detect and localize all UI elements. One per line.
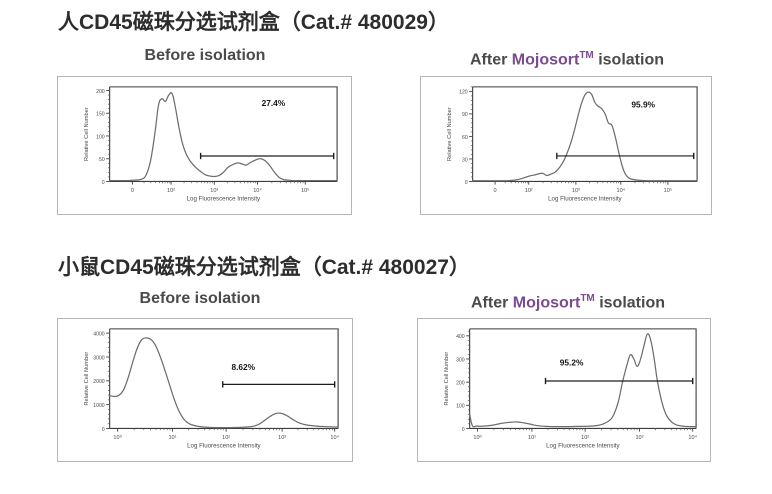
histogram-human-after: 0306090120010²10³10⁴10⁵Log Fluorescence … [421,77,711,214]
svg-text:30: 30 [462,157,468,163]
svg-text:10⁵: 10⁵ [301,187,309,194]
histogram-mouse-after: 010020030040010⁰10¹10²10³10⁴Log Fluoresc… [418,319,710,461]
svg-text:Relative Cell Number: Relative Cell Number [84,352,90,406]
svg-text:10⁴: 10⁴ [617,187,626,194]
histogram-mouse-before: 0100020003000400010⁰10¹10²10³10⁴Log Fluo… [58,319,352,461]
svg-text:10⁴: 10⁴ [688,434,697,441]
brand-mojosort-text: Mojosort [512,51,580,68]
panel-subtitle-after-human: After MojosortTM isolation [417,46,717,70]
subtitle-pre-text: After [470,51,512,68]
svg-text:3000: 3000 [93,355,105,361]
svg-text:60: 60 [462,135,468,141]
histogram-human-before: 050100150200010²10³10⁴10⁵Log Fluorescenc… [58,77,351,214]
svg-text:10⁴: 10⁴ [330,434,339,441]
page-title-mouse: 小鼠CD45磁珠分选试剂盒（Cat.# 480027） [0,247,772,289]
subtitle-post-text: isolation [594,51,664,68]
svg-text:4000: 4000 [93,332,105,338]
svg-text:Relative Cell Number: Relative Cell Number [84,107,90,161]
svg-text:Relative Cell Number: Relative Cell Number [444,352,450,406]
gate-percentage-label: 8.62% [231,362,255,372]
svg-text:120: 120 [459,90,468,96]
svg-text:0: 0 [102,427,105,433]
gate-percentage-label: 95.9% [631,100,655,110]
panel-row-mouse: 0100020003000400010⁰10¹10²10³10⁴Log Fluo… [0,315,772,462]
trademark-symbol: TM [580,293,594,304]
svg-text:10²: 10² [525,188,533,194]
panel-subtitle-after-mouse: After MojosortTM isolation [418,289,718,313]
svg-text:10²: 10² [581,435,589,441]
svg-text:1000: 1000 [93,403,105,409]
svg-text:10³: 10³ [278,435,286,441]
panel-subtitle-before-human: Before isolation [55,46,355,66]
gate-percentage-label: 95.2% [560,358,584,368]
svg-text:400: 400 [456,334,465,340]
svg-text:200: 200 [456,381,465,387]
gate-percentage-label: 27.4% [262,98,286,108]
svg-text:0: 0 [131,188,134,194]
svg-text:50: 50 [99,157,105,163]
subtitle-post-text: isolation [595,294,665,311]
svg-text:10¹: 10¹ [168,435,176,441]
svg-text:0: 0 [462,427,465,433]
svg-text:Log Fluorescence Intensity: Log Fluorescence Intensity [187,443,261,450]
svg-text:2000: 2000 [93,379,105,385]
svg-text:10⁰: 10⁰ [473,434,482,441]
svg-text:10³: 10³ [572,188,580,194]
svg-text:Log Fluorescence Intensity: Log Fluorescence Intensity [546,443,620,450]
svg-text:Log Fluorescence Intensity: Log Fluorescence Intensity [187,196,261,203]
flow-plot-panel-human-before: 050100150200010²10³10⁴10⁵Log Fluorescenc… [57,76,352,215]
svg-text:300: 300 [456,357,465,363]
svg-text:10¹: 10¹ [528,435,536,441]
svg-text:90: 90 [462,112,468,118]
svg-text:10⁴: 10⁴ [253,187,262,194]
panel-subtitle-before-mouse: Before isolation [50,289,350,309]
svg-text:100: 100 [96,134,105,140]
svg-text:150: 150 [96,112,105,118]
svg-text:200: 200 [96,89,105,95]
svg-text:0: 0 [102,180,105,186]
svg-text:10³: 10³ [210,188,218,194]
page-title-human: 人CD45磁珠分选试剂盒（Cat.# 480029） [0,0,772,46]
subtitle-pre-text: After [471,294,513,311]
svg-text:10²: 10² [222,435,230,441]
svg-text:Relative Cell Number: Relative Cell Number [447,107,453,161]
flow-plot-panel-mouse-before: 0100020003000400010⁰10¹10²10³10⁴Log Fluo… [57,318,353,462]
brand-mojosort-text: Mojosort [513,294,581,311]
kit-section-mouse: 小鼠CD45磁珠分选试剂盒（Cat.# 480027） Before isola… [0,247,772,494]
trademark-symbol: TM [579,50,593,61]
panel-row-human: 050100150200010²10³10⁴10⁵Log Fluorescenc… [0,72,772,215]
flow-plot-panel-human-after: 0306090120010²10³10⁴10⁵Log Fluorescence … [420,76,712,215]
svg-text:10³: 10³ [635,435,643,441]
svg-text:Log Fluorescence Intensity: Log Fluorescence Intensity [548,196,622,203]
svg-text:10⁵: 10⁵ [664,187,672,194]
kit-section-human: 人CD45磁珠分选试剂盒（Cat.# 480029） Before isolat… [0,0,772,247]
svg-text:0: 0 [465,180,468,186]
subtitle-row-human: Before isolation After MojosortTM isolat… [0,46,772,72]
svg-text:100: 100 [456,404,465,410]
subtitle-row-mouse: Before isolation After MojosortTM isolat… [0,289,772,315]
svg-text:0: 0 [494,188,497,194]
svg-text:10²: 10² [167,188,175,194]
svg-text:10⁰: 10⁰ [113,434,122,441]
flow-plot-panel-mouse-after: 010020030040010⁰10¹10²10³10⁴Log Fluoresc… [417,318,711,462]
